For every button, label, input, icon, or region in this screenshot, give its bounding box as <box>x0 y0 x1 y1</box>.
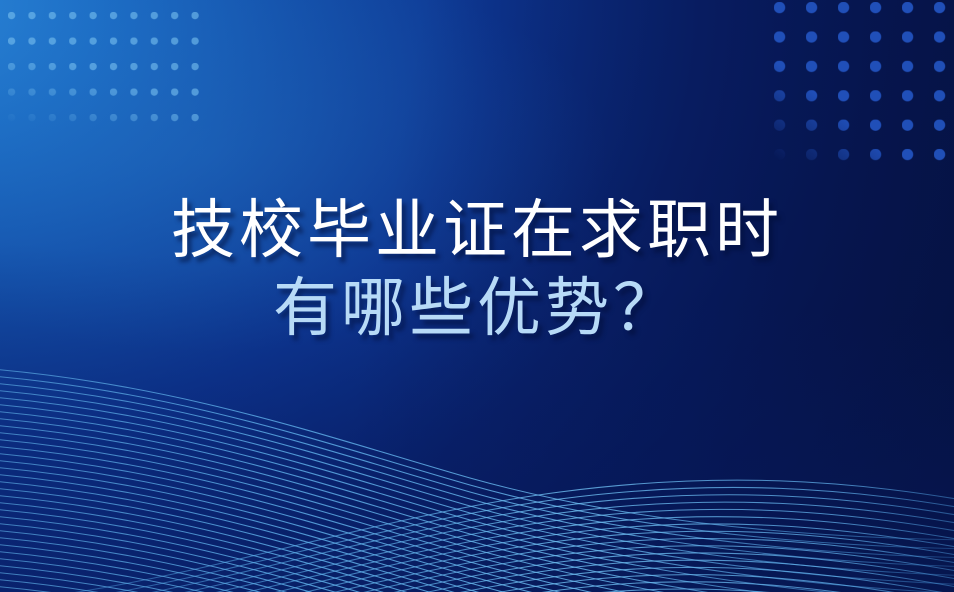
banner-title-line-2: 有哪些优势？ <box>0 274 954 346</box>
banner-title: 技校毕业证在求职时 有哪些优势？ <box>0 196 954 345</box>
promo-banner: 技校毕业证在求职时 有哪些优势？ <box>0 0 954 592</box>
banner-title-line-1: 技校毕业证在求职时 <box>0 196 954 268</box>
dot-grid-top-left <box>8 12 204 132</box>
wave-line-art-bottom <box>0 342 954 592</box>
dot-grid-top-right <box>774 2 954 164</box>
